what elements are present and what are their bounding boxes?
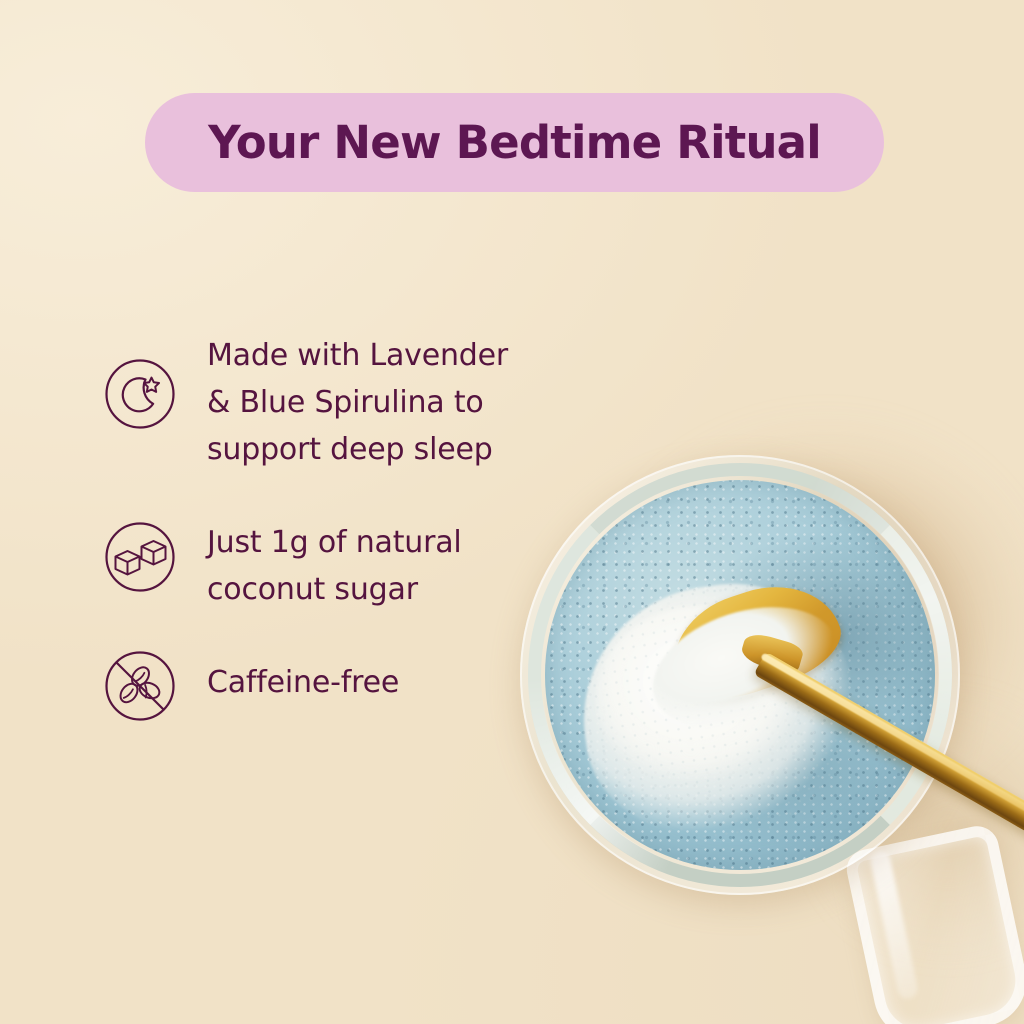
mug-handle-highlight (869, 850, 920, 1001)
title-banner: Your New Bedtime Ritual (145, 93, 884, 192)
gold-spoon-neck (739, 630, 805, 675)
feature-item-sleep: Made with Lavender & Blue Spirulina to s… (103, 330, 573, 473)
milk-foam-core (596, 606, 806, 792)
no-coffee-beans-icon (103, 649, 177, 723)
mug-cast-shadow (565, 322, 1024, 853)
feature-list: Made with Lavender & Blue Spirulina to s… (103, 330, 573, 723)
mug-glass-handle (843, 822, 1024, 1024)
sugar-cubes-icon (103, 520, 177, 594)
crescent-moon-star-icon (103, 357, 177, 431)
page-title: Your New Bedtime Ritual (208, 120, 821, 165)
feature-item-caffeine: Caffeine-free (103, 657, 573, 723)
foam-bubble-texture (567, 568, 871, 855)
feature-label-sleep: Made with Lavender & Blue Spirulina to s… (207, 330, 508, 473)
foam-over-spoon (637, 585, 852, 750)
mug-rim-highlight (528, 463, 952, 887)
blue-spirulina-latte-surface (545, 480, 935, 870)
handle-cast-shadow (820, 690, 1024, 990)
feature-item-sugar: Just 1g of natural coconut sugar (103, 517, 573, 613)
feature-label-caffeine: Caffeine-free (207, 657, 399, 706)
promo-graphic: Your New Bedtime Ritual Made with Lavend… (0, 0, 1024, 1024)
milk-foam-crescent (567, 568, 871, 855)
mug-rim (528, 463, 952, 887)
gold-spoon-handle-highlight (760, 652, 1024, 818)
mug-glass-body (520, 455, 960, 895)
gold-spoon-handle (754, 652, 1024, 840)
feature-label-sugar: Just 1g of natural coconut sugar (207, 517, 462, 613)
gold-spoon-bowl (657, 568, 851, 714)
